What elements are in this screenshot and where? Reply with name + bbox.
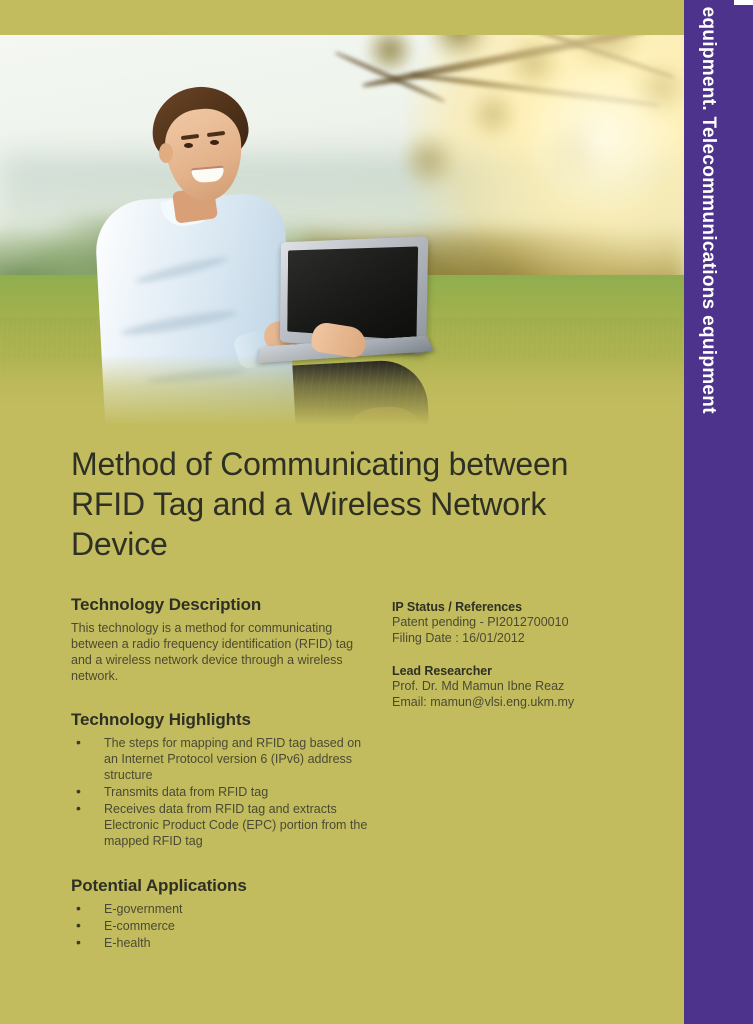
technology-highlights-heading: Technology Highlights — [71, 710, 371, 730]
category-sidebar: Electronic equipment. Telecommunications… — [684, 0, 753, 1024]
technology-description-body: This technology is a method for communic… — [71, 620, 371, 684]
page-title: Method of Communicating between RFID Tag… — [71, 444, 571, 564]
lead-researcher-heading: Lead Researcher — [392, 664, 682, 678]
potential-applications-heading: Potential Applications — [71, 876, 371, 896]
left-column: Technology Description This technology i… — [71, 595, 371, 952]
sidebar-top-notch — [734, 0, 753, 5]
technology-highlights-list: The steps for mapping and RFID tag based… — [71, 735, 371, 849]
spacer — [392, 646, 682, 664]
list-item: E-government — [71, 901, 371, 917]
lead-researcher-email: Email: mamun@vlsi.eng.ukm.my — [392, 694, 682, 710]
list-item: Receives data from RFID tag and extracts… — [71, 801, 371, 849]
hero-photo-container — [0, 35, 684, 425]
hero-photo — [0, 35, 684, 425]
list-item: E-health — [71, 935, 371, 951]
lead-researcher-name: Prof. Dr. Md Mamun Ibne Reaz — [392, 678, 682, 694]
spacer — [71, 684, 371, 710]
sun-flare — [404, 35, 684, 275]
list-item: Transmits data from RFID tag — [71, 784, 371, 800]
list-item: The steps for mapping and RFID tag based… — [71, 735, 371, 783]
right-column: IP Status / References Patent pending - … — [392, 600, 682, 710]
technology-description-heading: Technology Description — [71, 595, 371, 615]
sidebar-category-label: Electronic equipment. Telecommunications… — [697, 0, 719, 414]
ip-status-patent: Patent pending - PI2012700010 — [392, 614, 682, 630]
list-item: E-commerce — [71, 918, 371, 934]
poster-page: Method of Communicating between RFID Tag… — [0, 0, 753, 1024]
potential-applications-list: E-government E-commerce E-health — [71, 901, 371, 951]
person-eye — [210, 140, 219, 145]
photo-bottom-fade — [0, 355, 684, 425]
ip-status-heading: IP Status / References — [392, 600, 682, 614]
spacer — [71, 850, 371, 876]
person-eye — [184, 143, 193, 148]
ip-status-filing-date: Filing Date : 16/01/2012 — [392, 630, 682, 646]
person-ear — [159, 143, 173, 163]
